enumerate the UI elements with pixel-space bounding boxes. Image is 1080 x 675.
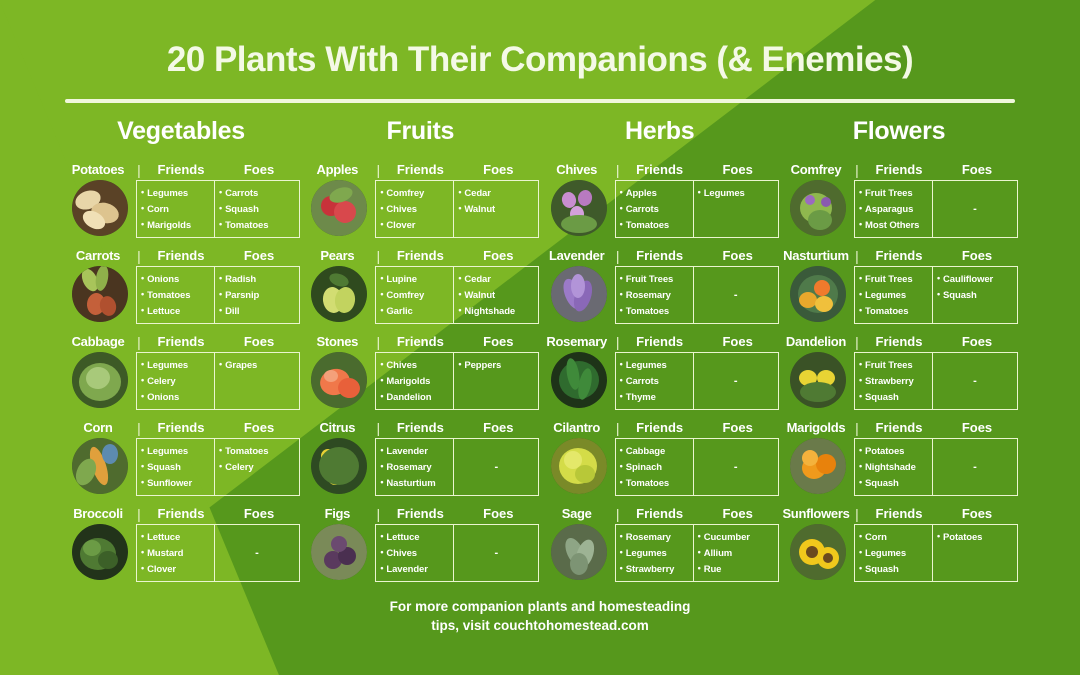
plant-row-body: CabbageSpinachTomatoes- (541, 438, 779, 496)
friend-item: Strawberry (859, 373, 930, 389)
friends-header: Friends (862, 421, 936, 435)
friends-box: ApplesCarrotsTomatoes (616, 181, 694, 237)
foes-box: CedarWalnut (454, 181, 538, 237)
plant-row-header: Citrus|FriendsFoes (301, 415, 539, 435)
plant-row-header: Sunflowers|FriendsFoes (780, 501, 1018, 521)
friends-list: LettuceChivesLavender (380, 529, 451, 577)
potatoes-photo (72, 180, 128, 236)
friend-item: Potatoes (859, 443, 930, 459)
page-title: 20 Plants With Their Companions (& Enemi… (0, 0, 1080, 80)
friends-list: OnionsTomatoesLettuce (141, 271, 212, 319)
friend-item: Rosemary (380, 459, 451, 475)
companion-boxes: Fruit TreesRosemaryTomatoes- (615, 266, 779, 324)
stonefruit-photo (311, 352, 367, 408)
companion-boxes: ComfreyChivesCloverCedarWalnut (375, 180, 539, 238)
friend-item: Mustard (141, 545, 212, 561)
foe-item: Radish (219, 271, 297, 287)
plant-name: Potatoes (62, 163, 134, 177)
plant-row-header: Pears|FriendsFoes (301, 243, 539, 263)
friend-item: Rosemary (620, 287, 691, 303)
friend-item: Squash (859, 475, 930, 491)
friends-header: Friends (862, 507, 936, 521)
foe-item: Rue (698, 561, 776, 577)
plant-row-body: LegumesCeleryOnionsGrapes (62, 352, 300, 410)
companion-boxes: ApplesCarrotsTomatoesLegumes (615, 180, 779, 238)
companion-boxes: RosemaryLegumesStrawberryCucumberAlliumR… (615, 524, 779, 582)
sage-photo (551, 524, 607, 580)
friends-header: Friends (623, 249, 697, 263)
foes-header: Foes (936, 335, 1018, 349)
plant-name: Cabbage (62, 335, 134, 349)
foe-item: Nightshade (458, 303, 536, 319)
cabbage-photo (72, 352, 128, 408)
friend-item: Fruit Trees (859, 357, 930, 373)
friend-item: Squash (859, 561, 930, 577)
foes-header: Foes (457, 421, 539, 435)
foes-box: Grapes (215, 353, 299, 409)
foe-item: Walnut (458, 201, 536, 217)
friend-item: Tomatoes (620, 475, 691, 491)
no-foes-placeholder: - (454, 525, 538, 581)
friends-box: Fruit TreesStrawberrySquash (855, 353, 933, 409)
friend-item: Dandelion (380, 389, 451, 405)
foes-box: Peppers (454, 353, 538, 409)
plant-name: Marigolds (780, 421, 852, 435)
friends-list: Fruit TreesStrawberrySquash (859, 357, 930, 405)
footer-line-2: tips, visit couchtohomestead.com (0, 616, 1080, 635)
nasturtium-photo (790, 266, 846, 322)
column-separator: | (134, 507, 144, 521)
plant-name: Pears (301, 249, 373, 263)
plant-row: Nasturtium|FriendsFoesFruit TreesLegumes… (780, 243, 1018, 324)
infographic-poster: 20 Plants With Their Companions (& Enemi… (0, 0, 1080, 675)
friend-item: Nightshade (859, 459, 930, 475)
category-column-flowers: FlowersComfrey|FriendsFoesFruit TreesAsp… (780, 117, 1018, 587)
friend-item: Carrots (620, 373, 691, 389)
friend-item: Lettuce (380, 529, 451, 545)
friend-item: Rosemary (620, 529, 691, 545)
plant-name: Stones (301, 335, 373, 349)
friend-item: Legumes (620, 545, 691, 561)
plant-row-body: Fruit TreesAsparagusMost Others- (780, 180, 1018, 238)
corn-photo (72, 438, 128, 494)
friends-header: Friends (862, 163, 936, 177)
plant-row-body: LegumesSquashSunflowerTomatoesCelery (62, 438, 300, 496)
citrus-photo (311, 438, 367, 494)
plant-name: Broccoli (62, 507, 134, 521)
plant-name: Cilantro (541, 421, 613, 435)
poster-content: 20 Plants With Their Companions (& Enemi… (0, 0, 1080, 635)
plant-row: Dandelion|FriendsFoesFruit TreesStrawber… (780, 329, 1018, 410)
category-title: Herbs (541, 117, 779, 146)
column-separator: | (852, 249, 862, 263)
column-separator: | (852, 421, 862, 435)
plant-row-body: Fruit TreesRosemaryTomatoes- (541, 266, 779, 324)
foes-header: Foes (697, 507, 779, 521)
friend-item: Spinach (620, 459, 691, 475)
column-separator: | (613, 421, 623, 435)
plant-row: Sage|FriendsFoesRosemaryLegumesStrawberr… (541, 501, 779, 582)
friends-header: Friends (383, 249, 457, 263)
plant-name: Nasturtium (780, 249, 852, 263)
plant-row-header: Corn|FriendsFoes (62, 415, 300, 435)
foes-list: CedarWalnutNightshade (458, 271, 536, 319)
friend-item: Tomatoes (620, 303, 691, 319)
friends-header: Friends (383, 421, 457, 435)
friends-list: Fruit TreesAsparagusMost Others (859, 185, 930, 233)
plant-row-header: Chives|FriendsFoes (541, 157, 779, 177)
friend-item: Chives (380, 357, 451, 373)
friends-list: PotatoesNightshadeSquash (859, 443, 930, 491)
plant-row-body: RosemaryLegumesStrawberryCucumberAlliumR… (541, 524, 779, 582)
friend-item: Celery (141, 373, 212, 389)
plant-row-body: Fruit TreesStrawberrySquash- (780, 352, 1018, 410)
plant-row-body: LupineComfreyGarlicCedarWalnutNightshade (301, 266, 539, 324)
foe-item: Parsnip (219, 287, 297, 303)
friends-header: Friends (144, 249, 218, 263)
plant-name: Lavender (541, 249, 613, 263)
foes-box: - (933, 353, 1017, 409)
friend-item: Legumes (141, 185, 212, 201)
friends-box: Fruit TreesAsparagusMost Others (855, 181, 933, 237)
category-column-vegetables: VegetablesPotatoes|FriendsFoesLegumesCor… (62, 117, 300, 587)
companion-boxes: Fruit TreesLegumesTomatoesCauliflowerSqu… (854, 266, 1018, 324)
comfrey-photo (790, 180, 846, 236)
plant-row: Rosemary|FriendsFoesLegumesCarrotsThyme- (541, 329, 779, 410)
foe-item: Squash (937, 287, 1015, 303)
friends-list: LavenderRosemaryNasturtium (380, 443, 451, 491)
foes-box: - (694, 439, 778, 495)
column-separator: | (134, 335, 144, 349)
friends-list: LettuceMustardClover (141, 529, 212, 577)
plant-row: Potatoes|FriendsFoesLegumesCornMarigolds… (62, 157, 300, 238)
friends-box: LettuceChivesLavender (376, 525, 454, 581)
companion-boxes: CornLegumesSquashPotatoes (854, 524, 1018, 582)
plant-row-header: Marigolds|FriendsFoes (780, 415, 1018, 435)
foes-header: Foes (697, 421, 779, 435)
friends-header: Friends (623, 421, 697, 435)
friend-item: Apples (620, 185, 691, 201)
friend-item: Squash (141, 459, 212, 475)
friend-item: Thyme (620, 389, 691, 405)
companion-boxes: LegumesCeleryOnionsGrapes (136, 352, 300, 410)
no-foes-placeholder: - (694, 267, 778, 323)
plant-row-body: ChivesMarigoldsDandelionPeppers (301, 352, 539, 410)
friends-header: Friends (144, 163, 218, 177)
plant-row: Comfrey|FriendsFoesFruit TreesAsparagusM… (780, 157, 1018, 238)
friend-item: Corn (141, 201, 212, 217)
companion-boxes: LegumesCarrotsThyme- (615, 352, 779, 410)
foes-box: - (215, 525, 299, 581)
friends-list: LegumesCarrotsThyme (620, 357, 691, 405)
foes-header: Foes (457, 163, 539, 177)
foe-item: Tomatoes (219, 443, 297, 459)
column-separator: | (613, 249, 623, 263)
friend-item: Fruit Trees (859, 185, 930, 201)
rosemary-photo (551, 352, 607, 408)
friend-item: Marigolds (380, 373, 451, 389)
plant-name: Carrots (62, 249, 134, 263)
foes-box: - (694, 267, 778, 323)
friends-header: Friends (623, 335, 697, 349)
friend-item: Tomatoes (859, 303, 930, 319)
category-title: Fruits (301, 117, 539, 146)
companion-boxes: LegumesSquashSunflowerTomatoesCelery (136, 438, 300, 496)
plant-row-header: Lavender|FriendsFoes (541, 243, 779, 263)
category-column-herbs: HerbsChives|FriendsFoesApplesCarrotsToma… (541, 117, 779, 587)
friends-list: ApplesCarrotsTomatoes (620, 185, 691, 233)
friends-list: LupineComfreyGarlic (380, 271, 451, 319)
plant-name: Sage (541, 507, 613, 521)
column-separator: | (134, 249, 144, 263)
figs-photo (311, 524, 367, 580)
plant-row: Carrots|FriendsFoesOnionsTomatoesLettuce… (62, 243, 300, 324)
friends-list: Fruit TreesRosemaryTomatoes (620, 271, 691, 319)
plant-row-body: Fruit TreesLegumesTomatoesCauliflowerSqu… (780, 266, 1018, 324)
broccoli-photo (72, 524, 128, 580)
friends-box: ComfreyChivesClover (376, 181, 454, 237)
foe-item: Peppers (458, 357, 536, 373)
plant-row: Marigolds|FriendsFoesPotatoesNightshadeS… (780, 415, 1018, 496)
foe-item: Carrots (219, 185, 297, 201)
foe-item: Squash (219, 201, 297, 217)
plant-row: Pears|FriendsFoesLupineComfreyGarlicCeda… (301, 243, 539, 324)
friends-box: CornLegumesSquash (855, 525, 933, 581)
category-title: Flowers (780, 117, 1018, 146)
companion-boxes: CabbageSpinachTomatoes- (615, 438, 779, 496)
column-separator: | (134, 421, 144, 435)
friend-item: Sunflower (141, 475, 212, 491)
plant-row-body: ApplesCarrotsTomatoesLegumes (541, 180, 779, 238)
foes-header: Foes (457, 507, 539, 521)
friend-item: Most Others (859, 217, 930, 233)
foe-item: Potatoes (937, 529, 1015, 545)
companion-boxes: LegumesCornMarigoldsCarrotsSquashTomatoe… (136, 180, 300, 238)
foes-list: Peppers (458, 357, 536, 373)
plant-row-header: Apples|FriendsFoes (301, 157, 539, 177)
foe-item: Legumes (698, 185, 776, 201)
column-separator: | (613, 335, 623, 349)
foe-item: Grapes (219, 357, 297, 373)
foes-header: Foes (697, 163, 779, 177)
companion-boxes: LupineComfreyGarlicCedarWalnutNightshade (375, 266, 539, 324)
plant-row-header: Sage|FriendsFoes (541, 501, 779, 521)
pears-photo (311, 266, 367, 322)
foes-header: Foes (936, 249, 1018, 263)
friends-box: OnionsTomatoesLettuce (137, 267, 215, 323)
foes-list: Grapes (219, 357, 297, 373)
companion-boxes: LettuceChivesLavender- (375, 524, 539, 582)
foe-item: Allium (698, 545, 776, 561)
friends-box: ChivesMarigoldsDandelion (376, 353, 454, 409)
friend-item: Chives (380, 545, 451, 561)
plant-row-body: ComfreyChivesCloverCedarWalnut (301, 180, 539, 238)
column-separator: | (373, 163, 383, 177)
plant-row: Apples|FriendsFoesComfreyChivesCloverCed… (301, 157, 539, 238)
plant-row-header: Potatoes|FriendsFoes (62, 157, 300, 177)
friends-header: Friends (862, 249, 936, 263)
friend-item: Nasturtium (380, 475, 451, 491)
foes-list: Potatoes (937, 529, 1015, 545)
friend-item: Garlic (380, 303, 451, 319)
plant-row-header: Dandelion|FriendsFoes (780, 329, 1018, 349)
foes-list: RadishParsnipDill (219, 271, 297, 319)
foe-item: Cucumber (698, 529, 776, 545)
friend-item: Legumes (620, 357, 691, 373)
plant-row-header: Cilantro|FriendsFoes (541, 415, 779, 435)
plant-row-body: LegumesCornMarigoldsCarrotsSquashTomatoe… (62, 180, 300, 238)
marigolds-photo (790, 438, 846, 494)
apples-photo (311, 180, 367, 236)
plant-row: Cilantro|FriendsFoesCabbageSpinachTomato… (541, 415, 779, 496)
foes-header: Foes (936, 163, 1018, 177)
no-foes-placeholder: - (454, 439, 538, 495)
friend-item: Tomatoes (141, 287, 212, 303)
friends-box: Fruit TreesLegumesTomatoes (855, 267, 933, 323)
category-columns: VegetablesPotatoes|FriendsFoesLegumesCor… (0, 103, 1080, 587)
friend-item: Lavender (380, 561, 451, 577)
no-foes-placeholder: - (694, 353, 778, 409)
friends-list: CabbageSpinachTomatoes (620, 443, 691, 491)
column-separator: | (613, 163, 623, 177)
friend-item: Lettuce (141, 303, 212, 319)
foes-list: CarrotsSquashTomatoes (219, 185, 297, 233)
friend-item: Strawberry (620, 561, 691, 577)
friends-box: LettuceMustardClover (137, 525, 215, 581)
friend-item: Carrots (620, 201, 691, 217)
friends-list: ComfreyChivesClover (380, 185, 451, 233)
friend-item: Legumes (141, 443, 212, 459)
foes-box: RadishParsnipDill (215, 267, 299, 323)
no-foes-placeholder: - (933, 353, 1017, 409)
friends-list: LegumesSquashSunflower (141, 443, 212, 491)
friend-item: Comfrey (380, 287, 451, 303)
friend-item: Lupine (380, 271, 451, 287)
no-foes-placeholder: - (215, 525, 299, 581)
friends-box: CabbageSpinachTomatoes (616, 439, 694, 495)
friends-list: RosemaryLegumesStrawberry (620, 529, 691, 577)
foes-box: CarrotsSquashTomatoes (215, 181, 299, 237)
friends-box: LupineComfreyGarlic (376, 267, 454, 323)
foe-item: Tomatoes (219, 217, 297, 233)
plant-name: Rosemary (541, 335, 613, 349)
foes-list: TomatoesCelery (219, 443, 297, 475)
friend-item: Cabbage (620, 443, 691, 459)
friends-box: LegumesCornMarigolds (137, 181, 215, 237)
plant-row: Lavender|FriendsFoesFruit TreesRosemaryT… (541, 243, 779, 324)
friends-header: Friends (144, 335, 218, 349)
friends-list: ChivesMarigoldsDandelion (380, 357, 451, 405)
friends-header: Friends (383, 163, 457, 177)
friend-item: Squash (859, 389, 930, 405)
foes-box: Legumes (694, 181, 778, 237)
friend-item: Chives (380, 201, 451, 217)
plant-row-body: LegumesCarrotsThyme- (541, 352, 779, 410)
column-separator: | (852, 163, 862, 177)
friends-list: LegumesCornMarigolds (141, 185, 212, 233)
foes-header: Foes (457, 249, 539, 263)
plant-row: Figs|FriendsFoesLettuceChivesLavender- (301, 501, 539, 582)
plant-name: Sunflowers (780, 507, 852, 521)
plant-row-body: LettuceMustardClover- (62, 524, 300, 582)
foes-box: - (454, 439, 538, 495)
plant-row: Broccoli|FriendsFoesLettuceMustardClover… (62, 501, 300, 582)
friends-header: Friends (144, 421, 218, 435)
friend-item: Asparagus (859, 201, 930, 217)
plant-row: Stones|FriendsFoesChivesMarigoldsDandeli… (301, 329, 539, 410)
column-separator: | (373, 249, 383, 263)
plant-row-header: Figs|FriendsFoes (301, 501, 539, 521)
friend-item: Legumes (141, 357, 212, 373)
foes-list: CucumberAlliumRue (698, 529, 776, 577)
foe-item: Cauliflower (937, 271, 1015, 287)
friends-header: Friends (144, 507, 218, 521)
foes-box: TomatoesCelery (215, 439, 299, 495)
companion-boxes: ChivesMarigoldsDandelionPeppers (375, 352, 539, 410)
lavender-photo (551, 266, 607, 322)
friends-list: Fruit TreesLegumesTomatoes (859, 271, 930, 319)
friend-item: Legumes (859, 545, 930, 561)
foe-item: Dill (219, 303, 297, 319)
plant-name: Chives (541, 163, 613, 177)
friend-item: Fruit Trees (620, 271, 691, 287)
friends-header: Friends (383, 335, 457, 349)
plant-row: Cabbage|FriendsFoesLegumesCeleryOnionsGr… (62, 329, 300, 410)
foes-header: Foes (218, 249, 300, 263)
friends-list: LegumesCeleryOnions (141, 357, 212, 405)
friends-box: LegumesCarrotsThyme (616, 353, 694, 409)
plant-row-header: Carrots|FriendsFoes (62, 243, 300, 263)
plant-row: Corn|FriendsFoesLegumesSquashSunflowerTo… (62, 415, 300, 496)
plant-row: Sunflowers|FriendsFoesCornLegumesSquashP… (780, 501, 1018, 582)
friends-header: Friends (383, 507, 457, 521)
column-separator: | (852, 507, 862, 521)
foes-box: - (454, 525, 538, 581)
column-separator: | (373, 421, 383, 435)
foes-header: Foes (697, 335, 779, 349)
plant-row-body: LavenderRosemaryNasturtium- (301, 438, 539, 496)
column-separator: | (373, 507, 383, 521)
friends-header: Friends (623, 507, 697, 521)
plant-row: Citrus|FriendsFoesLavenderRosemaryNastur… (301, 415, 539, 496)
plant-row-header: Nasturtium|FriendsFoes (780, 243, 1018, 263)
plant-name: Apples (301, 163, 373, 177)
friends-box: Fruit TreesRosemaryTomatoes (616, 267, 694, 323)
foes-header: Foes (218, 335, 300, 349)
foes-box: Potatoes (933, 525, 1017, 581)
category-column-fruits: FruitsApples|FriendsFoesComfreyChivesClo… (301, 117, 539, 587)
companion-boxes: LavenderRosemaryNasturtium- (375, 438, 539, 496)
foes-box: CauliflowerSquash (933, 267, 1017, 323)
friends-box: RosemaryLegumesStrawberry (616, 525, 694, 581)
dandelion-photo (790, 352, 846, 408)
friends-list: CornLegumesSquash (859, 529, 930, 577)
cilantro-photo (551, 438, 607, 494)
friend-item: Lettuce (141, 529, 212, 545)
plant-name: Corn (62, 421, 134, 435)
foes-header: Foes (936, 507, 1018, 521)
companion-boxes: OnionsTomatoesLettuceRadishParsnipDill (136, 266, 300, 324)
plant-row-header: Comfrey|FriendsFoes (780, 157, 1018, 177)
no-foes-placeholder: - (933, 439, 1017, 495)
foes-box: CedarWalnutNightshade (454, 267, 538, 323)
column-separator: | (613, 507, 623, 521)
foe-item: Cedar (458, 185, 536, 201)
plant-row-header: Rosemary|FriendsFoes (541, 329, 779, 349)
foes-header: Foes (457, 335, 539, 349)
friend-item: Clover (141, 561, 212, 577)
friends-box: PotatoesNightshadeSquash (855, 439, 933, 495)
